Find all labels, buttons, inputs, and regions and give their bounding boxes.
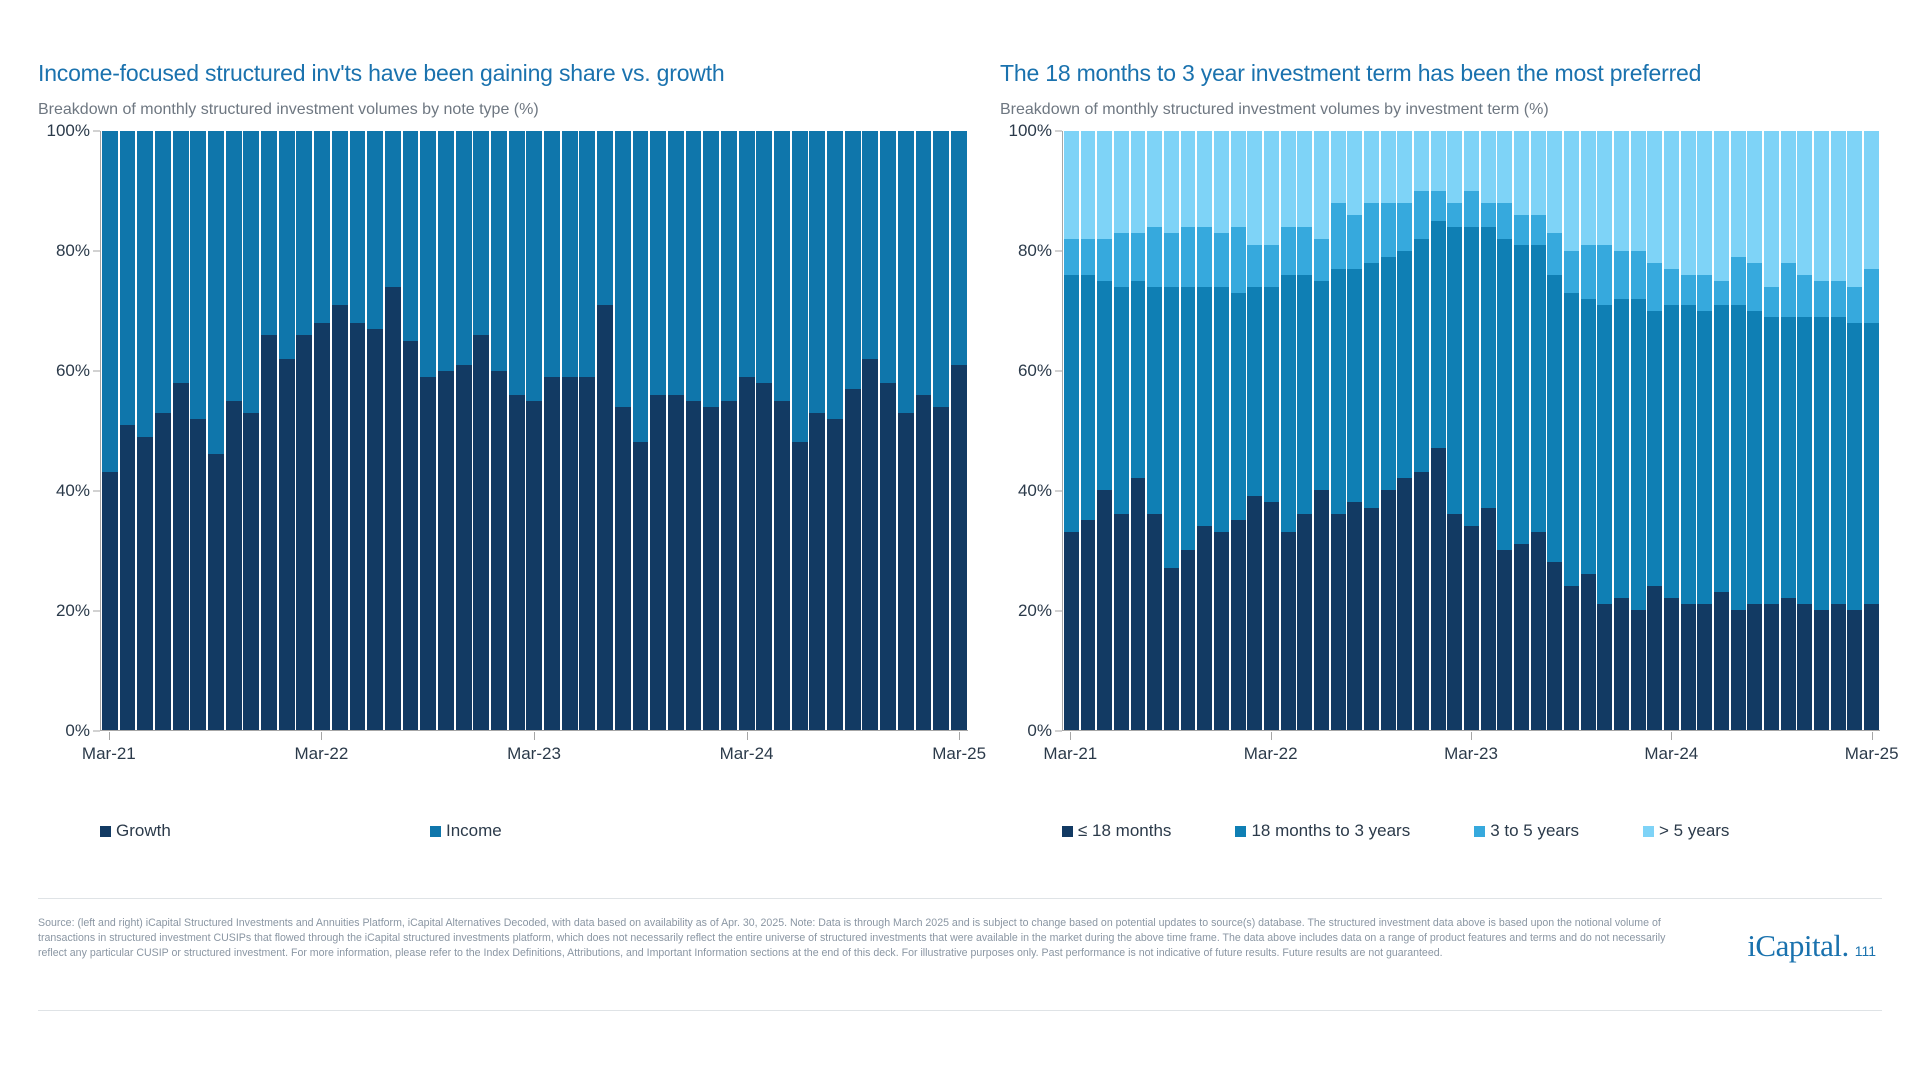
bar-segment	[1164, 287, 1179, 569]
y-axis-tick-label: 0%	[65, 721, 90, 741]
bar-column	[1514, 131, 1529, 730]
bar-segment	[1481, 227, 1496, 509]
bar-segment	[579, 377, 595, 730]
slide-root: Income-focused structured inv'ts have be…	[0, 0, 1920, 1080]
chart-right: 0%20%40%60%80%100% Mar-21Mar-22Mar-23Mar…	[1000, 131, 1880, 731]
plot-wrapper-left: 0%20%40%60%80%100%	[38, 131, 968, 731]
legend-label: ≤ 18 months	[1078, 821, 1171, 841]
bar-column	[1731, 131, 1746, 730]
bar-column	[1831, 131, 1846, 730]
bar-segment	[880, 383, 896, 730]
source-footnote: Source: (left and right) iCapital Struct…	[38, 916, 1678, 961]
bar-segment	[1781, 131, 1796, 263]
bar-segment	[1197, 526, 1212, 730]
x-axis-tick-label: Mar-23	[1444, 744, 1498, 764]
bar-segment	[668, 395, 684, 730]
bar-column	[1097, 131, 1112, 730]
bar-segment	[1281, 131, 1296, 227]
bar-segment	[1331, 269, 1346, 515]
bar-segment	[1181, 227, 1196, 287]
bar-segment	[1597, 131, 1612, 245]
bar-segment	[562, 377, 578, 730]
bar-segment	[1831, 604, 1846, 730]
bar-segment	[1114, 514, 1129, 730]
bar-segment	[1297, 275, 1312, 515]
bar-segment	[1847, 131, 1862, 287]
bar-segment	[173, 131, 189, 383]
bar-segment	[1414, 472, 1429, 730]
bar-segment	[1064, 131, 1079, 239]
bar-segment	[845, 389, 861, 730]
y-axis-tick-mark	[1055, 251, 1062, 252]
bar-segment	[703, 407, 719, 730]
bar-column	[137, 131, 153, 730]
legend-label: 18 months to 3 years	[1251, 821, 1410, 841]
bar-segment	[1514, 215, 1529, 245]
bar-segment	[1197, 287, 1212, 527]
bar-segment	[792, 131, 808, 442]
bar-segment	[1497, 239, 1512, 550]
bar-segment	[1564, 131, 1579, 251]
bar-segment	[1381, 131, 1396, 203]
y-axis-tick-mark	[1055, 731, 1062, 732]
bar-segment	[1097, 490, 1112, 730]
bar-column	[1281, 131, 1296, 730]
bar-segment	[1164, 233, 1179, 287]
bar-segment	[155, 413, 171, 730]
bar-segment	[1147, 514, 1162, 730]
legend-swatch-icon	[430, 826, 441, 837]
footer-divider-top	[38, 898, 1882, 899]
bar-column	[456, 131, 472, 730]
bar-segment	[862, 359, 878, 730]
bar-column	[1131, 131, 1146, 730]
bar-segment	[1247, 496, 1262, 730]
bar-column	[916, 131, 932, 730]
y-axis-right: 0%20%40%60%80%100%	[1000, 131, 1062, 731]
legend-label: 3 to 5 years	[1490, 821, 1579, 841]
legend-item[interactable]: Income	[430, 821, 760, 841]
bar-segment	[1331, 131, 1346, 203]
bar-segment	[1314, 281, 1329, 491]
y-axis-tick-label: 80%	[56, 241, 90, 261]
x-axis-tick-mark	[1271, 732, 1272, 740]
bar-segment	[1431, 131, 1446, 191]
bar-segment	[1631, 131, 1646, 251]
y-axis-tick-label: 80%	[1018, 241, 1052, 261]
bar-segment	[1197, 227, 1212, 287]
bar-column	[774, 131, 790, 730]
x-axis-tick-label: Mar-21	[1043, 744, 1097, 764]
plot-bars-right	[1062, 131, 1880, 731]
bar-segment	[120, 425, 136, 730]
bar-column	[1781, 131, 1796, 730]
bar-segment	[1264, 287, 1279, 503]
bar-segment	[190, 131, 206, 419]
bar-segment	[916, 395, 932, 730]
chart-panel-right: The 18 months to 3 year investment term …	[1000, 60, 1880, 731]
bar-column	[1681, 131, 1696, 730]
bar-column	[792, 131, 808, 730]
bar-column	[1697, 131, 1712, 730]
bar-segment	[438, 371, 454, 730]
bar-column	[1714, 131, 1729, 730]
bar-segment	[385, 287, 401, 730]
bar-segment	[261, 335, 277, 730]
bar-column	[120, 131, 136, 730]
y-axis-tick-label: 40%	[56, 481, 90, 501]
bar-column	[403, 131, 419, 730]
bar-segment	[792, 442, 808, 730]
bar-segment	[1514, 131, 1529, 215]
bar-column	[1381, 131, 1396, 730]
bar-segment	[420, 131, 436, 377]
bar-segment	[1681, 305, 1696, 605]
y-axis-tick-mark	[93, 371, 100, 372]
bar-segment	[1131, 233, 1146, 281]
bar-segment	[1647, 263, 1662, 311]
bar-segment	[1114, 233, 1129, 287]
bar-segment	[1581, 245, 1596, 299]
bar-segment	[1647, 586, 1662, 730]
bar-segment	[1481, 508, 1496, 730]
footer-divider-bottom	[38, 1010, 1882, 1011]
bar-column	[1164, 131, 1179, 730]
bar-segment	[1231, 520, 1246, 730]
bar-column	[1581, 131, 1596, 730]
bar-segment	[1597, 305, 1612, 605]
bar-segment	[579, 131, 595, 377]
bar-segment	[1164, 568, 1179, 730]
bar-column	[279, 131, 295, 730]
bar-segment	[155, 131, 171, 413]
bar-column	[102, 131, 118, 730]
chart-left: 0%20%40%60%80%100% Mar-21Mar-22Mar-23Mar…	[38, 131, 968, 731]
bar-column	[703, 131, 719, 730]
legend-item[interactable]: > 5 years	[1643, 821, 1729, 841]
bar-segment	[1847, 610, 1862, 730]
bar-segment	[1797, 131, 1812, 275]
x-axis-tick-label: Mar-25	[932, 744, 986, 764]
bar-segment	[1831, 317, 1846, 605]
bar-segment	[1114, 287, 1129, 515]
y-axis-tick-label: 40%	[1018, 481, 1052, 501]
y-axis-tick-mark	[1055, 491, 1062, 492]
x-axis-right: Mar-21Mar-22Mar-23Mar-24Mar-25	[1062, 732, 1880, 782]
bar-segment	[1814, 281, 1829, 317]
bar-column	[1414, 131, 1429, 730]
bar-column	[827, 131, 843, 730]
bar-segment	[367, 329, 383, 730]
bar-column	[385, 131, 401, 730]
bar-segment	[721, 401, 737, 730]
bar-segment	[1131, 131, 1146, 233]
legend-right: ≤ 18 months18 months to 3 years3 to 5 ye…	[1062, 821, 1880, 841]
y-axis-tick-label: 60%	[56, 361, 90, 381]
y-axis-tick-mark	[1055, 371, 1062, 372]
bar-column	[509, 131, 525, 730]
bar-segment	[1814, 317, 1829, 611]
bar-column	[668, 131, 684, 730]
x-axis-tick-mark	[534, 732, 535, 740]
bar-column	[1847, 131, 1862, 730]
bar-column	[1314, 131, 1329, 730]
bar-segment	[1714, 281, 1729, 305]
bar-segment	[1314, 239, 1329, 281]
bar-column	[1397, 131, 1412, 730]
bar-column	[1664, 131, 1679, 730]
y-axis-tick-label: 100%	[1009, 121, 1052, 141]
bar-column	[420, 131, 436, 730]
x-axis-tick-label: Mar-22	[294, 744, 348, 764]
bar-column	[350, 131, 366, 730]
bar-segment	[1864, 131, 1879, 269]
bar-column	[756, 131, 772, 730]
bar-column	[721, 131, 737, 730]
x-axis-tick-mark	[1070, 732, 1071, 740]
bar-column	[1264, 131, 1279, 730]
bar-segment	[314, 131, 330, 323]
bar-column	[226, 131, 242, 730]
bar-column	[1764, 131, 1779, 730]
bar-segment	[1564, 293, 1579, 587]
bar-segment	[1231, 293, 1246, 521]
bar-segment	[1331, 203, 1346, 269]
bar-segment	[261, 131, 277, 335]
bar-segment	[809, 131, 825, 413]
x-axis-tick-mark	[1671, 732, 1672, 740]
bar-column	[1597, 131, 1612, 730]
bar-segment	[686, 131, 702, 401]
bar-segment	[1664, 305, 1679, 599]
bar-segment	[1397, 131, 1412, 203]
bar-column	[1431, 131, 1446, 730]
x-axis-tick-mark	[109, 732, 110, 740]
bar-segment	[1647, 311, 1662, 587]
bar-segment	[1731, 305, 1746, 610]
bar-segment	[650, 131, 666, 395]
bar-segment	[1397, 478, 1412, 730]
bar-column	[1147, 131, 1162, 730]
bar-segment	[1631, 251, 1646, 299]
bar-segment	[1531, 131, 1546, 215]
y-axis-tick-label: 0%	[1027, 721, 1052, 741]
bar-column	[1231, 131, 1246, 730]
bar-segment	[845, 131, 861, 389]
bar-segment	[1064, 532, 1079, 730]
bar-segment	[1197, 131, 1212, 227]
bar-segment	[1481, 203, 1496, 227]
bar-segment	[774, 131, 790, 401]
bar-segment	[1797, 317, 1812, 605]
legend-item[interactable]: 3 to 5 years	[1474, 821, 1579, 841]
bar-segment	[1831, 281, 1846, 317]
bar-segment	[1514, 245, 1529, 545]
bar-segment	[173, 383, 189, 730]
bar-segment	[1081, 275, 1096, 521]
bar-column	[1614, 131, 1629, 730]
bar-segment	[350, 323, 366, 730]
bar-segment	[1097, 131, 1112, 239]
bar-segment	[1131, 478, 1146, 730]
bar-segment	[296, 335, 312, 730]
bar-segment	[1531, 532, 1546, 730]
bar-segment	[1614, 299, 1629, 599]
bar-segment	[1181, 287, 1196, 551]
bar-segment	[1264, 131, 1279, 245]
bar-segment	[1081, 520, 1096, 730]
bar-segment	[1364, 203, 1379, 263]
y-axis-tick-mark	[1055, 611, 1062, 612]
bar-segment	[933, 131, 949, 407]
bar-segment	[1747, 131, 1762, 263]
bar-segment	[456, 131, 472, 365]
plot-bars-left	[100, 131, 968, 731]
bar-column	[1647, 131, 1662, 730]
legend-item[interactable]: ≤ 18 months	[1062, 821, 1171, 841]
bar-segment	[1747, 263, 1762, 311]
bar-segment	[208, 131, 224, 454]
bar-segment	[350, 131, 366, 323]
bar-segment	[703, 131, 719, 407]
bar-segment	[562, 131, 578, 377]
x-axis-tick-label: Mar-24	[1644, 744, 1698, 764]
bar-column	[615, 131, 631, 730]
bar-segment	[1264, 502, 1279, 730]
bar-segment	[1431, 221, 1446, 449]
bar-segment	[1281, 532, 1296, 730]
bar-segment	[1764, 604, 1779, 730]
legend-item[interactable]: Growth	[100, 821, 430, 841]
bar-segment	[332, 305, 348, 730]
bar-column	[1114, 131, 1129, 730]
legend-item[interactable]: 18 months to 3 years	[1235, 821, 1410, 841]
bar-segment	[1864, 323, 1879, 605]
y-axis-tick-mark	[93, 251, 100, 252]
legend-left: GrowthIncome	[100, 821, 968, 841]
bar-column	[367, 131, 383, 730]
x-axis-tick-mark	[747, 732, 748, 740]
bar-segment	[1364, 131, 1379, 203]
bar-segment	[1547, 131, 1562, 233]
bar-column	[739, 131, 755, 730]
bar-column	[526, 131, 542, 730]
bar-segment	[120, 131, 136, 425]
bar-segment	[1681, 604, 1696, 730]
bar-segment	[438, 131, 454, 371]
bar-segment	[1564, 251, 1579, 293]
bar-segment	[1581, 299, 1596, 575]
bar-segment	[597, 305, 613, 730]
bar-column	[190, 131, 206, 730]
bar-segment	[526, 131, 542, 401]
bar-segment	[1597, 245, 1612, 305]
x-axis-tick-label: Mar-21	[82, 744, 136, 764]
bar-segment	[1431, 448, 1446, 730]
bar-segment	[1697, 311, 1712, 605]
bar-segment	[1697, 131, 1712, 275]
bar-segment	[686, 401, 702, 730]
bar-segment	[544, 131, 560, 377]
bar-segment	[385, 131, 401, 287]
bar-segment	[1731, 257, 1746, 305]
bar-segment	[1481, 131, 1496, 203]
bar-segment	[137, 131, 153, 436]
bar-segment	[1147, 287, 1162, 515]
bar-segment	[668, 131, 684, 395]
bar-segment	[1864, 604, 1879, 730]
legend-label: Income	[446, 821, 502, 841]
bar-column	[809, 131, 825, 730]
bar-segment	[1614, 598, 1629, 730]
y-axis-tick-mark	[1055, 131, 1062, 132]
bar-column	[650, 131, 666, 730]
bar-column	[1564, 131, 1579, 730]
legend-swatch-icon	[1235, 826, 1246, 837]
bar-column	[880, 131, 896, 730]
bar-segment	[1364, 263, 1379, 509]
bar-column	[1631, 131, 1646, 730]
bar-segment	[314, 323, 330, 730]
x-axis-tick-label: Mar-25	[1845, 744, 1899, 764]
bar-segment	[1297, 227, 1312, 275]
bar-column	[314, 131, 330, 730]
legend-label: > 5 years	[1659, 821, 1729, 841]
bar-segment	[509, 131, 525, 395]
bar-segment	[1381, 257, 1396, 491]
bar-column	[597, 131, 613, 730]
y-axis-tick-label: 60%	[1018, 361, 1052, 381]
bar-segment	[898, 131, 914, 413]
bar-segment	[1281, 275, 1296, 533]
bar-segment	[951, 131, 967, 365]
bar-column	[243, 131, 259, 730]
bar-segment	[1764, 287, 1779, 317]
bar-segment	[1864, 269, 1879, 323]
bar-column	[1364, 131, 1379, 730]
bar-segment	[1714, 592, 1729, 730]
bar-segment	[1597, 604, 1612, 730]
bar-column	[1064, 131, 1079, 730]
bar-segment	[1764, 317, 1779, 605]
page-title-left: Income-focused structured inv'ts have be…	[38, 60, 968, 87]
bar-segment	[1464, 526, 1479, 730]
bar-segment	[1181, 550, 1196, 730]
bar-column	[1747, 131, 1762, 730]
bar-segment	[1114, 131, 1129, 233]
bar-segment	[1547, 233, 1562, 275]
bar-column	[686, 131, 702, 730]
bar-segment	[916, 131, 932, 395]
bar-column	[1081, 131, 1096, 730]
bar-segment	[1064, 239, 1079, 275]
bar-segment	[1764, 131, 1779, 287]
bar-segment	[1147, 227, 1162, 287]
bar-segment	[1181, 131, 1196, 227]
bar-column	[562, 131, 578, 730]
bar-segment	[1781, 317, 1796, 599]
bar-segment	[420, 377, 436, 730]
bar-segment	[1447, 203, 1462, 227]
bar-column	[1531, 131, 1546, 730]
bar-segment	[1514, 544, 1529, 730]
bar-segment	[1231, 227, 1246, 293]
bar-segment	[1214, 131, 1229, 233]
bar-segment	[1447, 227, 1462, 515]
bar-segment	[403, 131, 419, 341]
bar-column	[933, 131, 949, 730]
bar-segment	[243, 131, 259, 413]
